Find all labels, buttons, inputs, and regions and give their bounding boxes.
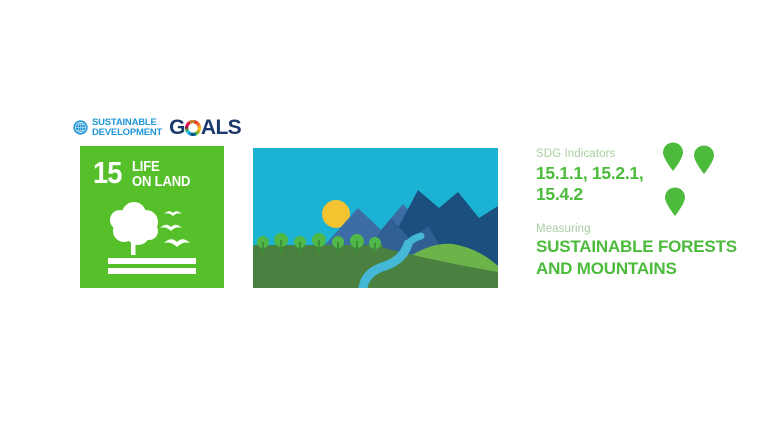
logo-line-development: DEVELOPMENT bbox=[92, 128, 162, 138]
un-emblem-icon bbox=[73, 120, 88, 135]
goal-title-line1: LIFE bbox=[132, 160, 190, 175]
logo-wordmark: SUSTAINABLE DEVELOPMENT bbox=[92, 118, 162, 137]
tree-birds-land-icon bbox=[94, 198, 210, 276]
map-pin-1-icon bbox=[662, 142, 684, 172]
goal-tile-heading: 15 LIFE ON LAND bbox=[93, 160, 197, 189]
sdg-indicators-block: SDG Indicators 15.1.1, 15.2.1, 15.4.2 bbox=[536, 147, 666, 205]
sdg-color-wheel-icon bbox=[185, 120, 201, 136]
goal-title: LIFE ON LAND bbox=[132, 160, 197, 189]
sdg-logo-lockup: SUSTAINABLE DEVELOPMENT G bbox=[73, 117, 241, 138]
indicators-value: 15.1.1, 15.2.1, 15.4.2 bbox=[536, 163, 666, 204]
goal-number: 15 bbox=[93, 160, 122, 185]
indicators-kicker: SDG Indicators bbox=[536, 147, 666, 161]
map-pin-2-icon bbox=[693, 145, 715, 175]
logo-goals-word: G bbox=[169, 117, 241, 138]
goal-15-tile: 15 LIFE ON LAND bbox=[80, 146, 224, 288]
measuring-title-line1: SUSTAINABLE FORESTS bbox=[536, 237, 748, 257]
map-pin-cluster bbox=[662, 142, 732, 222]
landscape-illustration bbox=[253, 148, 498, 288]
map-pin-3-icon bbox=[664, 187, 686, 217]
goal-title-line2: ON LAND bbox=[132, 175, 190, 190]
measuring-kicker: Measuring bbox=[536, 222, 748, 236]
measuring-title-line2: AND MOUNTAINS bbox=[536, 259, 748, 279]
goals-letter-g: G bbox=[169, 117, 185, 138]
goals-letters-als: ALS bbox=[201, 117, 241, 138]
measuring-block: Measuring SUSTAINABLE FORESTS AND MOUNTA… bbox=[536, 222, 748, 279]
forest-mountain-river-landscape-svg bbox=[253, 148, 498, 288]
